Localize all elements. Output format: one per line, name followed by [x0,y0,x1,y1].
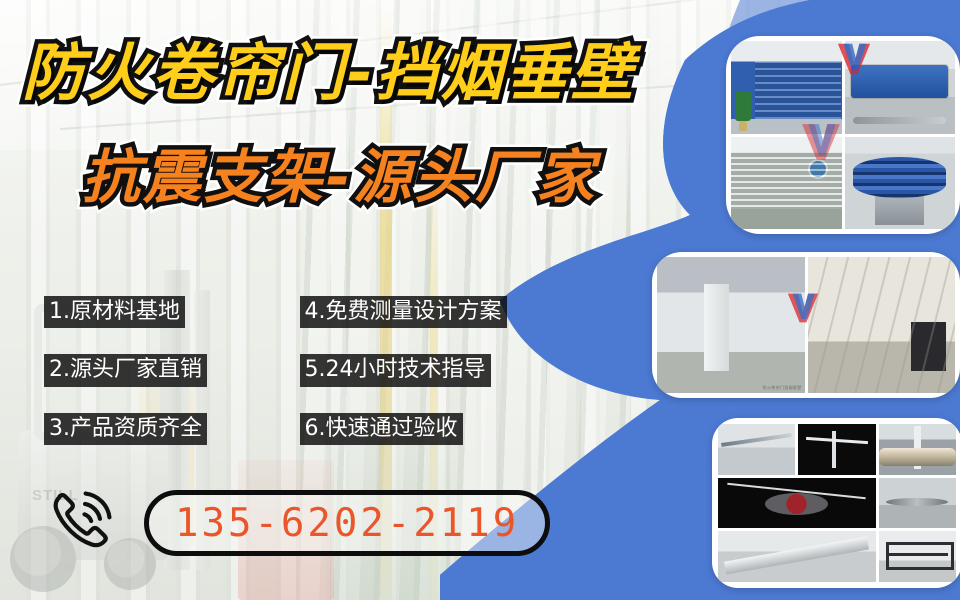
headline-secondary: 抗震支架-源头厂家 抗震支架-源头厂家 抗震支架-源头厂家 [82,148,597,206]
photo-shutter-coil [845,137,956,230]
photo-ceiling-fan [879,478,956,529]
feature-row: 3.产品资质齐全 6.快速通过验收 [44,413,554,445]
photo-suspended-ceiling [808,257,956,393]
photo-seismic-brace-detail [798,424,875,475]
collage-grid [718,424,956,582]
phone-call-icon [44,486,118,560]
collage-grid: 防火卷帘门挡烟垂壁 [657,257,955,393]
feature-item-6: 6.快速通过验收 [300,413,463,445]
photo-production-machine [845,41,956,134]
feature-item-5: 5.24小时技术指导 [300,354,491,386]
feature-cell: 1.原材料基地 [44,296,282,328]
contact-row: 135-6202-2119 [44,486,550,560]
photo-steel-shutter [731,137,842,230]
feature-cell: 3.产品资质齐全 [44,413,282,445]
photo-caption: 防火卷帘门挡烟垂壁 [763,385,802,391]
phone-number-pill[interactable]: 135-6202-2119 [144,490,550,556]
headline-secondary-text: 抗震支架-源头厂家 [82,148,597,206]
feature-item-3: 3.产品资质齐全 [44,413,207,445]
feature-cell: 5.24小时技术指导 [300,354,554,386]
headline-primary: 防火卷帘门-挡烟垂壁 防火卷帘门-挡烟垂壁 防火卷帘门-挡烟垂壁 [22,36,636,109]
feature-row: 1.原材料基地 4.免费测量设计方案 [44,296,554,328]
photo-steel-frame [879,531,956,582]
photo-blue-shutter-door [731,41,842,134]
phone-number: 135-6202-2119 [175,504,519,543]
feature-cell: 4.免费测量设计方案 [300,296,554,328]
feature-row: 2.源头厂家直销 5.24小时技术指导 [44,354,554,386]
feature-list: 1.原材料基地 4.免费测量设计方案 2.源头厂家直销 5.24小时技术指导 3… [44,296,554,471]
photo-pipe-clamp [879,424,956,475]
feature-cell: 2.源头厂家直销 [44,354,282,386]
collage-grid [731,41,955,229]
feature-item-4: 4.免费测量设计方案 [300,296,507,328]
photo-fan-brace [718,478,876,529]
photo-parking-garage: 防火卷帘门挡烟垂壁 [657,257,805,393]
headline-primary-text: 防火卷帘门-挡烟垂壁 [22,42,636,104]
photo-duct-bracing [718,531,876,582]
seismic-bracket-collage[interactable] [712,418,960,588]
promo-banner: STILL 防火卷帘门-挡烟垂壁 防火卷帘门-挡烟垂壁 防火卷帘门-挡烟垂壁 抗… [0,0,960,600]
garage-ceiling-collage[interactable]: 防火卷帘门挡烟垂壁 [652,252,960,398]
photo-pipe-hangers [718,424,795,475]
feature-item-2: 2.源头厂家直销 [44,354,207,386]
fire-shutter-collage[interactable] [726,36,960,234]
feature-item-1: 1.原材料基地 [44,296,185,328]
feature-cell: 6.快速通过验收 [300,413,554,445]
